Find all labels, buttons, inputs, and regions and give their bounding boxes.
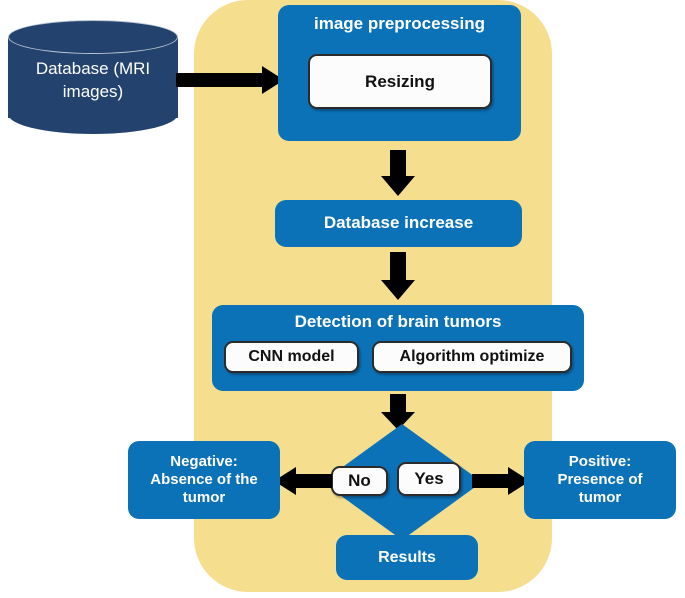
database-increase-label: Database increase: [324, 213, 473, 234]
arrow-shaft: [390, 252, 406, 282]
arrow-decision-to-positive: [472, 467, 530, 495]
arrow-database-to-preprocessing: [176, 66, 284, 94]
negative-outcome-box: Negative: Absence of the tumor: [128, 441, 280, 519]
arrow-shaft: [292, 474, 332, 488]
positive-label-line3: tumor: [579, 489, 622, 506]
resizing-label: Resizing: [365, 72, 435, 92]
positive-outcome-box: Positive: Presence of tumor: [524, 441, 676, 519]
positive-label-line1: Positive:: [569, 453, 632, 470]
results-box: Results: [336, 535, 478, 580]
branch-yes-label: Yes: [414, 469, 443, 489]
results-label: Results: [378, 548, 436, 568]
resizing-subbox: Resizing: [308, 54, 492, 109]
branch-no-box: No: [331, 466, 388, 496]
negative-label-line1: Negative:: [170, 453, 238, 470]
preprocessing-label: image preprocessing: [314, 14, 485, 35]
arrow-head: [381, 280, 415, 300]
database-label-line1: Database (MRI: [36, 59, 150, 78]
database-cylinder-node: Database (MRI images): [8, 20, 178, 134]
detection-label: Detection of brain tumors: [295, 312, 502, 333]
arrow-database-increase-to-detection: [381, 252, 415, 300]
positive-label-line2: Presence of: [557, 471, 642, 488]
database-label-line2: images): [63, 82, 123, 101]
flowchart-canvas: Database (MRI images) image preprocessin…: [0, 0, 685, 598]
algorithm-optimize-label: Algorithm optimize: [400, 348, 545, 366]
arrow-decision-to-negative: [274, 467, 332, 495]
arrow-preprocessing-to-database-increase: [381, 150, 415, 195]
arrow-head: [381, 176, 415, 196]
cnn-model-subbox: CNN model: [224, 341, 359, 373]
negative-label-line3: tumor: [183, 489, 226, 506]
negative-label-line2: Absence of the: [150, 471, 258, 488]
branch-yes-box: Yes: [397, 462, 461, 496]
database-label: Database (MRI images): [8, 46, 178, 116]
arrow-shaft: [390, 150, 406, 178]
branch-no-label: No: [348, 471, 371, 491]
arrow-shaft: [176, 73, 264, 87]
arrow-shaft: [472, 474, 512, 488]
arrow-shaft: [390, 394, 406, 414]
database-increase-box: Database increase: [275, 200, 522, 247]
cnn-model-label: CNN model: [248, 348, 334, 366]
algorithm-optimize-subbox: Algorithm optimize: [372, 341, 572, 373]
